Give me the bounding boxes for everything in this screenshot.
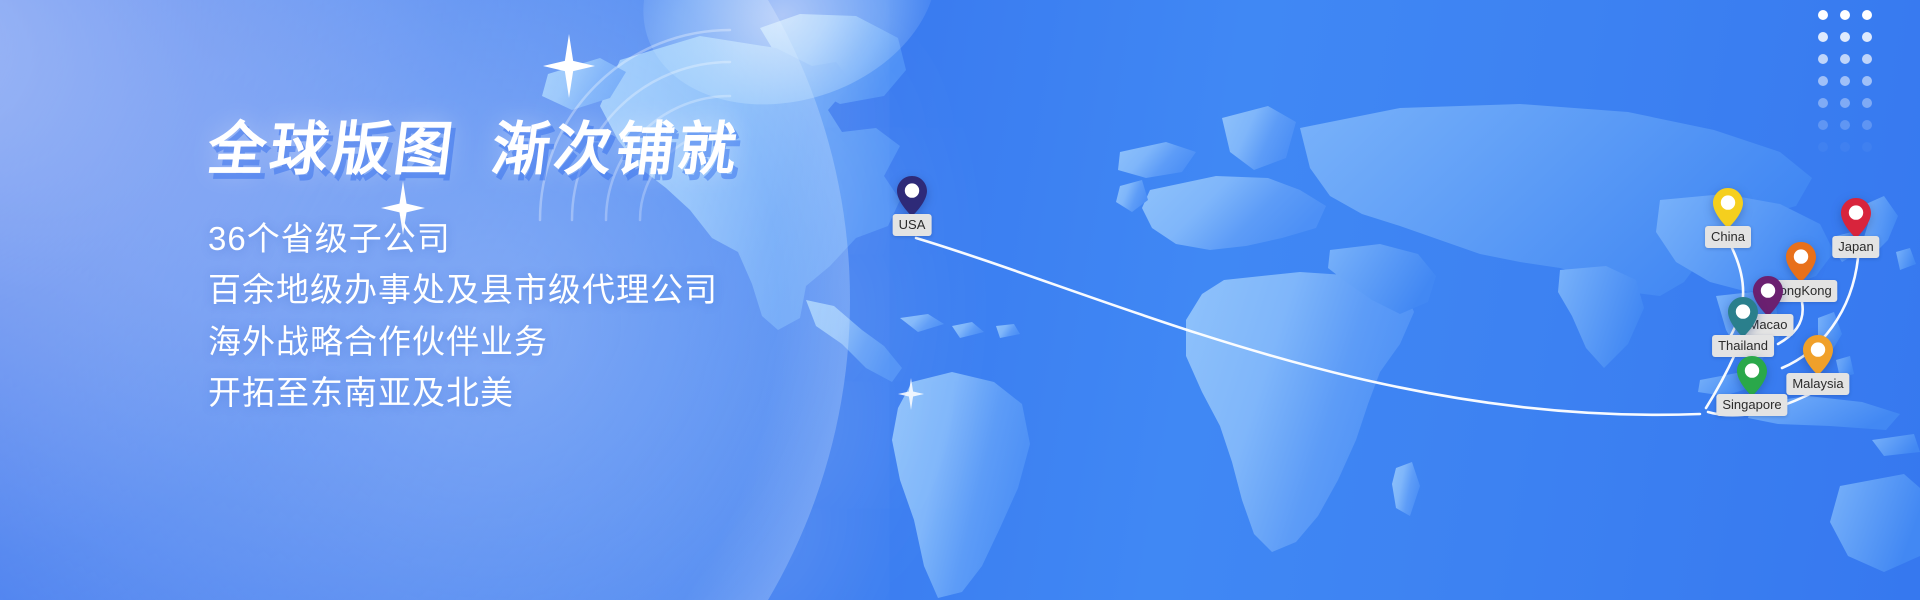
location-pin-icon [1786, 242, 1816, 282]
location-pin-icon [1841, 198, 1871, 238]
map-pin-label: Japan [1832, 236, 1879, 258]
location-pin-icon [897, 176, 927, 216]
grid-dot [1862, 10, 1872, 20]
grid-dot [1862, 142, 1872, 152]
subtitle-line: 百余地级办事处及县市级代理公司 [208, 264, 1028, 315]
grid-dot [1818, 76, 1828, 86]
grid-dot [1818, 32, 1828, 42]
grid-dot [1818, 98, 1828, 108]
map-pin-label: Singapore [1716, 394, 1787, 416]
location-pin-icon [1803, 335, 1833, 375]
map-pin-japan[interactable]: Japan [1841, 198, 1871, 238]
grid-dot [1840, 76, 1850, 86]
grid-dot [1840, 10, 1850, 20]
subtitle-line: 开拓至东南亚及北美 [208, 367, 1028, 418]
headline-part-2: 渐次铺就 [488, 117, 744, 182]
location-pin-icon [1728, 297, 1758, 337]
grid-dot [1818, 120, 1828, 130]
grid-dot [1840, 142, 1850, 152]
banner-copy: 全球版图渐次铺就 36个省级子公司 百余地级办事处及县市级代理公司 海外战略合作… [208, 118, 1028, 419]
grid-dot [1862, 32, 1872, 42]
map-pin-label: USA [893, 214, 932, 236]
map-pin-thailand[interactable]: Thailand [1728, 297, 1758, 337]
grid-dot [1862, 98, 1872, 108]
map-pin-label: China [1705, 226, 1751, 248]
map-pin-usa[interactable]: USA [897, 176, 927, 216]
map-pin-malaysia[interactable]: Malaysia [1803, 335, 1833, 375]
dot-grid-decoration [1818, 10, 1872, 152]
grid-dot [1862, 54, 1872, 64]
grid-dot [1818, 10, 1828, 20]
grid-dot [1840, 120, 1850, 130]
grid-dot [1840, 98, 1850, 108]
global-map-banner: 全球版图渐次铺就 36个省级子公司 百余地级办事处及县市级代理公司 海外战略合作… [0, 0, 1920, 600]
map-pin-label: Malaysia [1786, 373, 1849, 395]
subtitle-list: 36个省级子公司 百余地级办事处及县市级代理公司 海外战略合作伙伴业务 开拓至东… [208, 213, 1028, 419]
subtitle-line: 海外战略合作伙伴业务 [208, 316, 1028, 367]
grid-dot [1840, 32, 1850, 42]
map-pin-label: Thailand [1712, 335, 1774, 357]
headline-part-1: 全球版图 [204, 117, 460, 182]
grid-dot [1862, 76, 1872, 86]
grid-dot [1818, 142, 1828, 152]
grid-dot [1818, 54, 1828, 64]
location-pin-icon [1737, 356, 1767, 396]
page-title: 全球版图渐次铺就 [204, 118, 1032, 183]
map-pin-china[interactable]: China [1713, 188, 1743, 228]
grid-dot [1862, 120, 1872, 130]
location-pin-icon [1713, 188, 1743, 228]
grid-dot [1840, 54, 1850, 64]
map-pin-hongkong[interactable]: HongKong [1786, 242, 1816, 282]
map-pin-singapore[interactable]: Singapore [1737, 356, 1767, 396]
